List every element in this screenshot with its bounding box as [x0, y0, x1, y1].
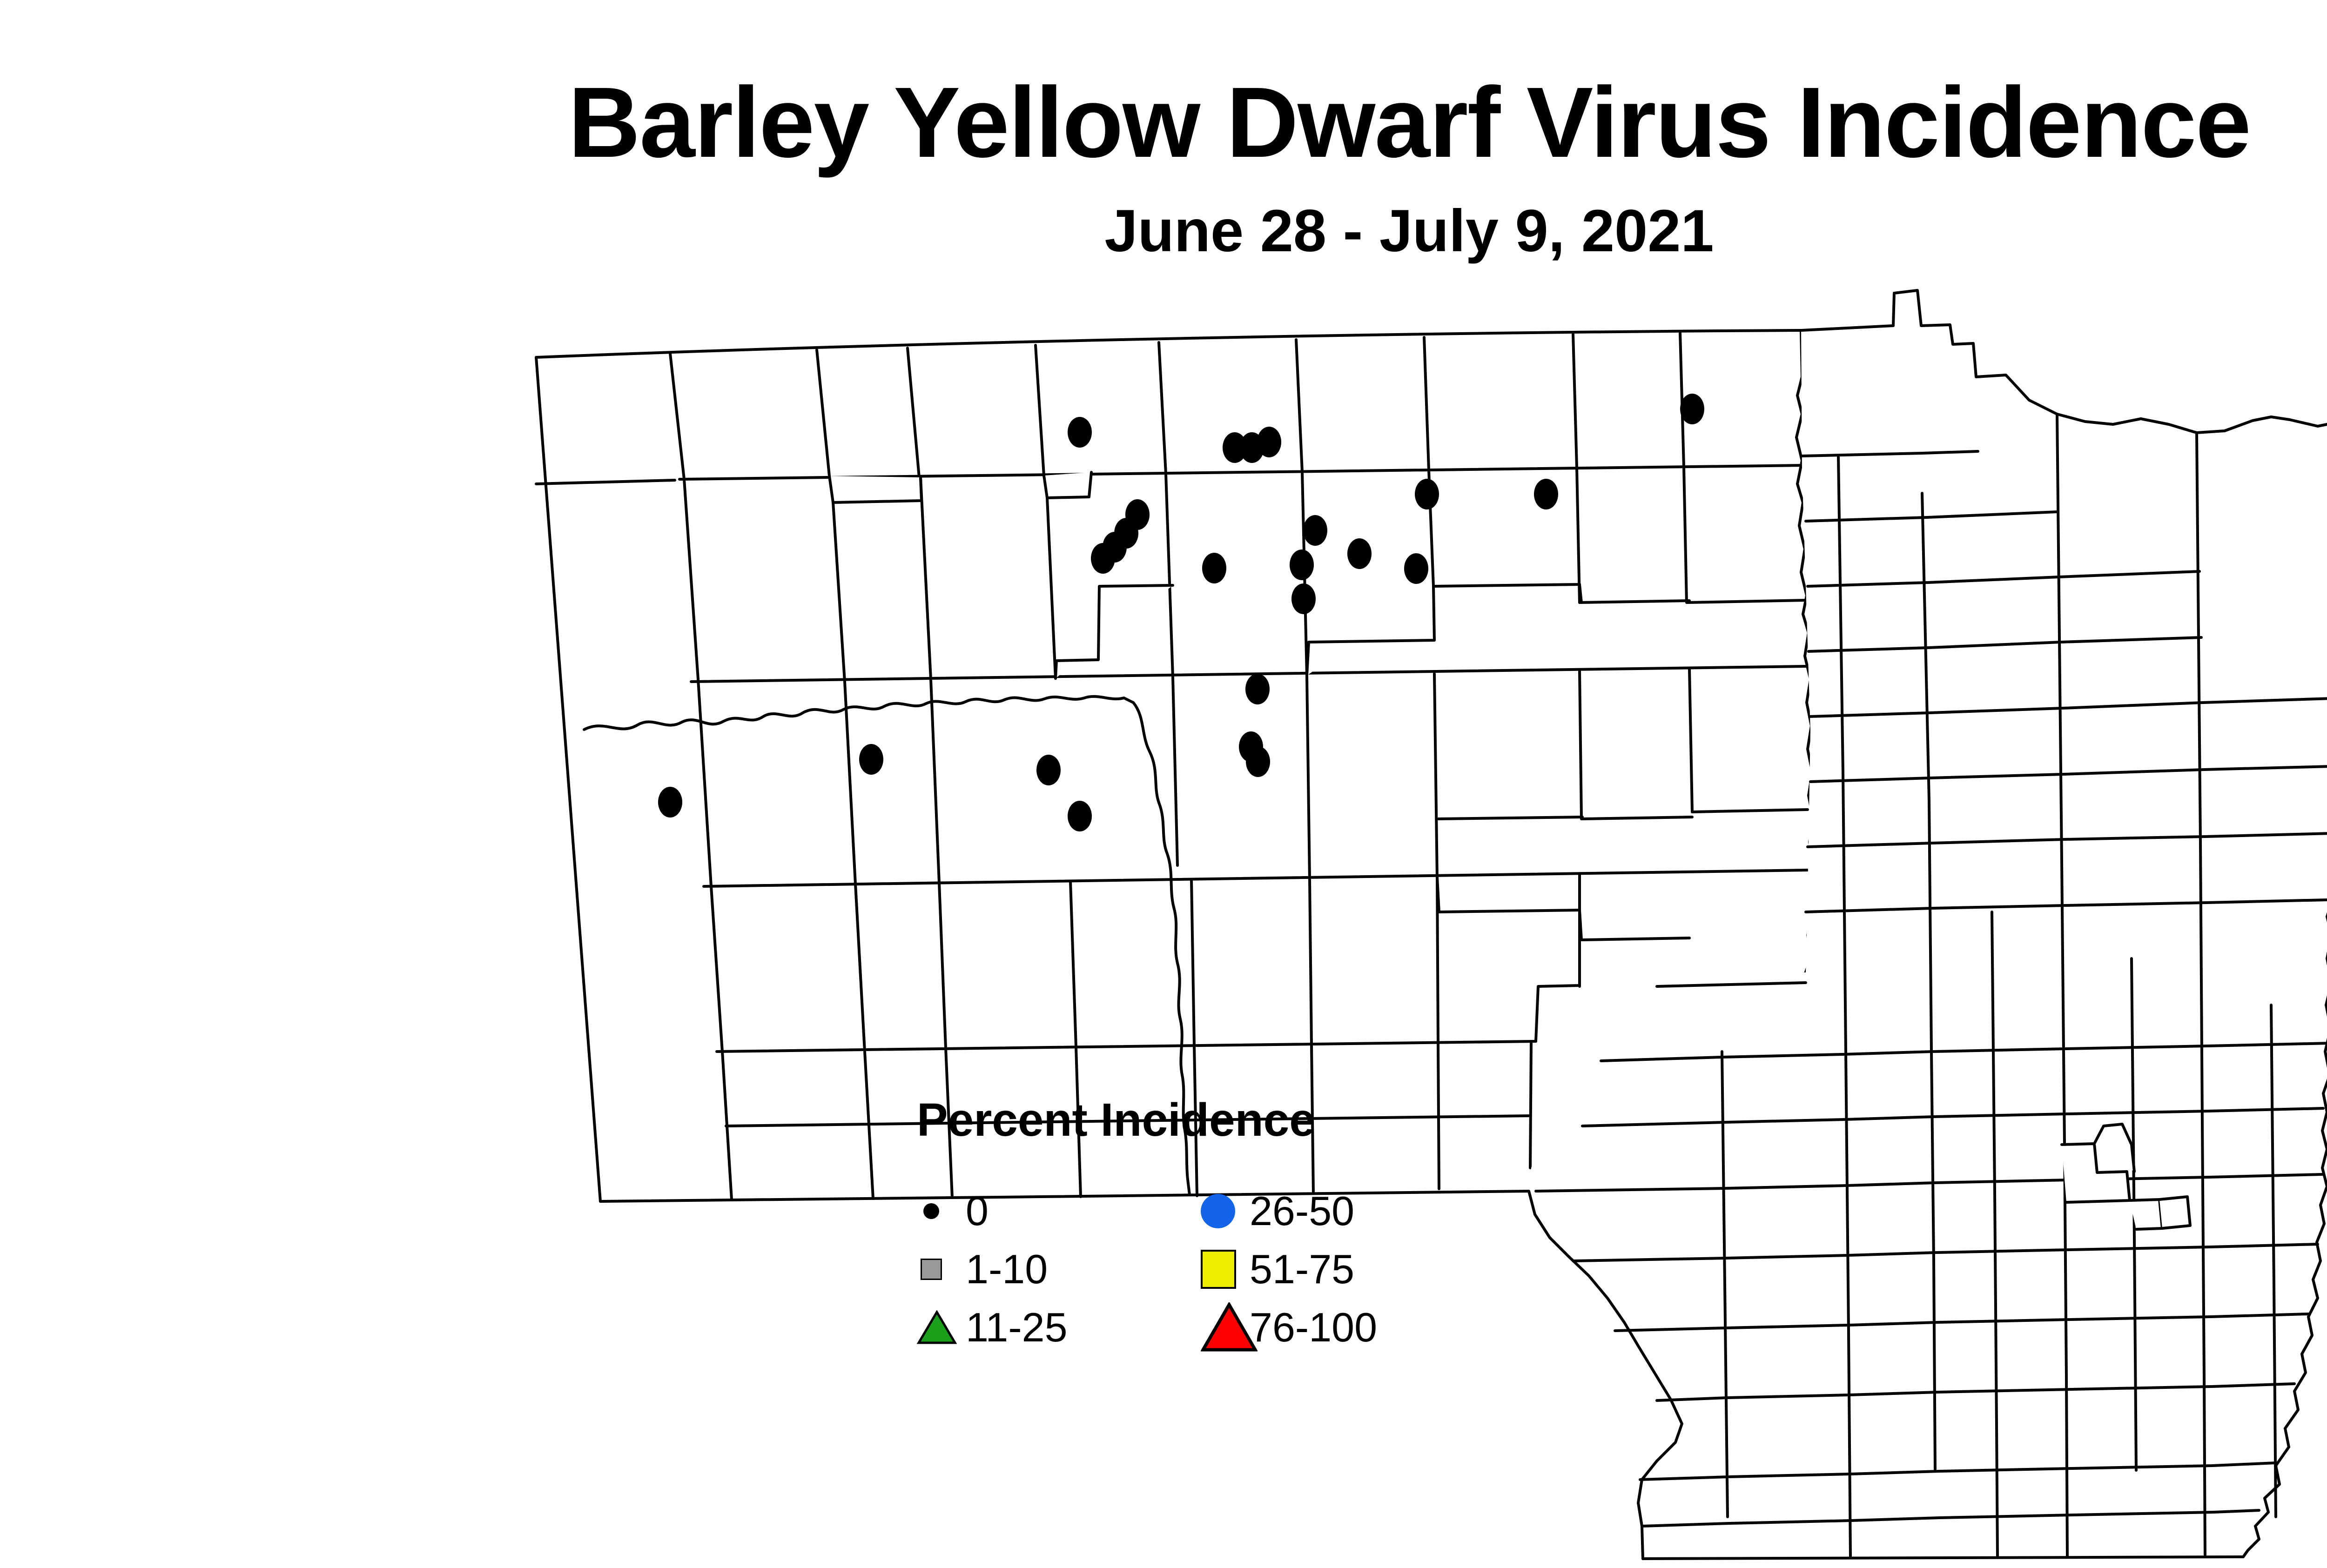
- legend-label-1-10: 1-10: [966, 1249, 1048, 1290]
- legend-item-11-25[interactable]: 11-25: [917, 1298, 1159, 1356]
- data-point: [1303, 515, 1327, 546]
- data-point: [1347, 538, 1372, 569]
- legend-column-left: 0 1-10 11-25: [917, 1182, 1159, 1356]
- data-point: [1246, 746, 1270, 777]
- square-marker-yellow-icon: [1201, 1250, 1236, 1289]
- triangle-marker-red-icon: [1201, 1302, 1258, 1353]
- circle-marker-icon: [923, 1203, 939, 1219]
- legend-label-76-100: 76-100: [1250, 1307, 1377, 1348]
- data-point: [1680, 394, 1704, 424]
- circle-marker-blue-icon: [1201, 1194, 1235, 1228]
- map-page: Barley Yellow Dwarf Virus Incidence June…: [0, 0, 2327, 1568]
- data-point: [859, 744, 883, 775]
- legend-label-26-50: 26-50: [1250, 1191, 1354, 1232]
- data-point: [1290, 549, 1314, 580]
- data-point: [1245, 674, 1270, 704]
- data-point: [1036, 755, 1061, 785]
- legend-item-26-50[interactable]: 26-50: [1201, 1182, 1443, 1240]
- legend-label-11-25: 11-25: [966, 1307, 1068, 1348]
- page-subtitle: June 28 - July 9, 2021: [0, 200, 2327, 262]
- legend-label-0: 0: [966, 1191, 989, 1232]
- legend-column-right: 26-50 51-75 76-100: [1201, 1182, 1443, 1356]
- data-point: [1404, 553, 1428, 584]
- data-point: [658, 787, 682, 818]
- triangle-marker-icon: [917, 1310, 957, 1345]
- legend-item-51-75[interactable]: 51-75: [1201, 1240, 1443, 1298]
- data-point: [1068, 417, 1092, 448]
- legend-item-0[interactable]: 0: [917, 1182, 1159, 1240]
- data-point: [1202, 553, 1226, 583]
- data-point: [1068, 801, 1092, 831]
- legend-item-1-10[interactable]: 1-10: [917, 1240, 1159, 1298]
- data-point: [1257, 427, 1281, 457]
- legend-title: Percent Incidence: [917, 1093, 1382, 1147]
- data-point: [1415, 479, 1439, 509]
- square-marker-icon: [921, 1259, 942, 1280]
- legend-label-51-75: 51-75: [1250, 1249, 1354, 1290]
- title-block: Barley Yellow Dwarf Virus Incidence June…: [0, 0, 2327, 288]
- legend: Percent Incidence 0 1-10 11-25: [917, 1093, 1438, 1373]
- page-title: Barley Yellow Dwarf Virus Incidence: [0, 70, 2327, 175]
- data-point: [1534, 479, 1558, 509]
- legend-item-76-100[interactable]: 76-100: [1201, 1298, 1443, 1356]
- data-point: [1091, 543, 1115, 574]
- data-point: [1291, 583, 1316, 614]
